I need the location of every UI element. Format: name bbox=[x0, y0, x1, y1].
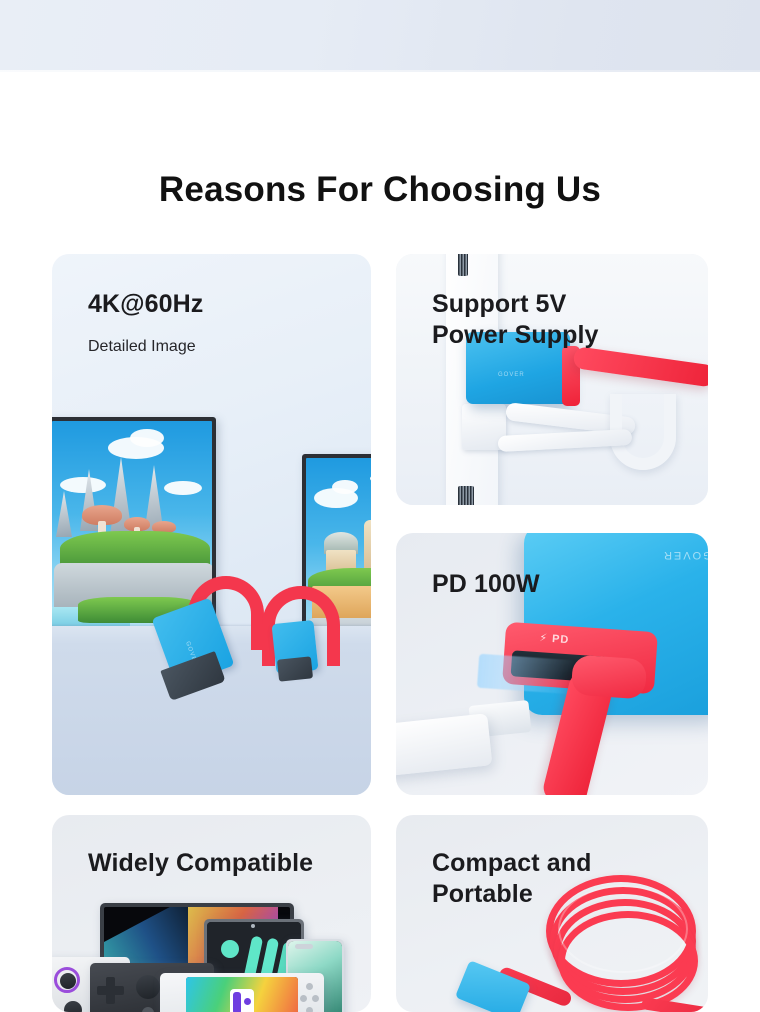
cloud bbox=[332, 480, 358, 494]
device-nintendo-switch bbox=[160, 973, 324, 1012]
switch-logo-right bbox=[244, 998, 251, 1005]
handheld-stick-2 bbox=[64, 1001, 82, 1012]
dpad-horizontal bbox=[97, 986, 124, 995]
product-feature-page: Reasons For Choosing Us bbox=[0, 0, 760, 1012]
red-cable-joint bbox=[571, 654, 648, 699]
joycon-button bbox=[306, 983, 313, 990]
joycon-button bbox=[300, 995, 307, 1002]
card-5v-title-line2: Power Supply bbox=[432, 321, 599, 349]
devices-photo bbox=[52, 815, 371, 1012]
card-pd-title: PD 100W bbox=[432, 569, 540, 600]
card-4k-subtitle: Detailed Image bbox=[88, 337, 196, 357]
cloud bbox=[164, 481, 202, 495]
handheld-dark-button bbox=[142, 1007, 154, 1012]
feature-card-support-5v[interactable]: GOVER Support 5V Power Supply bbox=[396, 254, 708, 505]
tower bbox=[364, 520, 371, 572]
socket-pins-top bbox=[458, 254, 468, 276]
typec-connector-body bbox=[277, 656, 313, 681]
feature-card-pd-100w[interactable]: GOVER ⚡ PD PD 100W bbox=[396, 533, 708, 795]
card-portable-title: Compact and Portable bbox=[432, 848, 591, 910]
tablet-camera bbox=[251, 924, 255, 928]
cable-connector-blue bbox=[455, 960, 531, 1012]
card-5v-title: Support 5V Power Supply bbox=[432, 289, 599, 351]
handheld-stick bbox=[60, 973, 76, 989]
card-4k-title: 4K@60Hz bbox=[88, 289, 203, 319]
cloud bbox=[130, 429, 164, 447]
coiled-cable-photo bbox=[396, 815, 708, 1012]
monitors-photo: GOVER bbox=[52, 254, 371, 795]
feature-card-widely-compatible[interactable]: Widely Compatible bbox=[52, 815, 371, 1012]
feature-card-4k-60hz[interactable]: GOVER 4K@60Hz Detailed Image bbox=[52, 254, 371, 795]
brand-logo: GOVER bbox=[662, 549, 708, 561]
phone-camera-bar bbox=[295, 944, 313, 949]
card-compat-title: Widely Compatible bbox=[88, 848, 313, 879]
switch-logo-left bbox=[233, 992, 241, 1012]
wallpaper-dot bbox=[221, 940, 239, 958]
banner-bottom-edge bbox=[0, 70, 760, 72]
top-banner bbox=[0, 0, 760, 72]
page-title: Reasons For Choosing Us bbox=[0, 168, 760, 212]
light-beam bbox=[477, 654, 575, 695]
cable-tail-end bbox=[641, 997, 708, 1012]
handheld-dark-stick bbox=[136, 975, 160, 999]
typec-connector-white bbox=[396, 713, 492, 776]
socket-pins-bottom bbox=[458, 486, 474, 505]
switch-screen bbox=[186, 977, 298, 1012]
joycon-button bbox=[306, 1007, 313, 1012]
cloud bbox=[60, 477, 106, 493]
card-portable-title-line1: Compact and bbox=[432, 849, 591, 877]
joycon-button bbox=[312, 995, 319, 1002]
pd-port-label: ⚡ PD bbox=[539, 631, 570, 646]
feature-card-compact-portable[interactable]: Compact and Portable bbox=[396, 815, 708, 1012]
brand-logo: GOVER bbox=[498, 372, 525, 378]
pd-text: PD bbox=[552, 633, 570, 646]
card-5v-title-line1: Support 5V bbox=[432, 290, 566, 318]
card-portable-title-line2: Portable bbox=[432, 880, 533, 908]
